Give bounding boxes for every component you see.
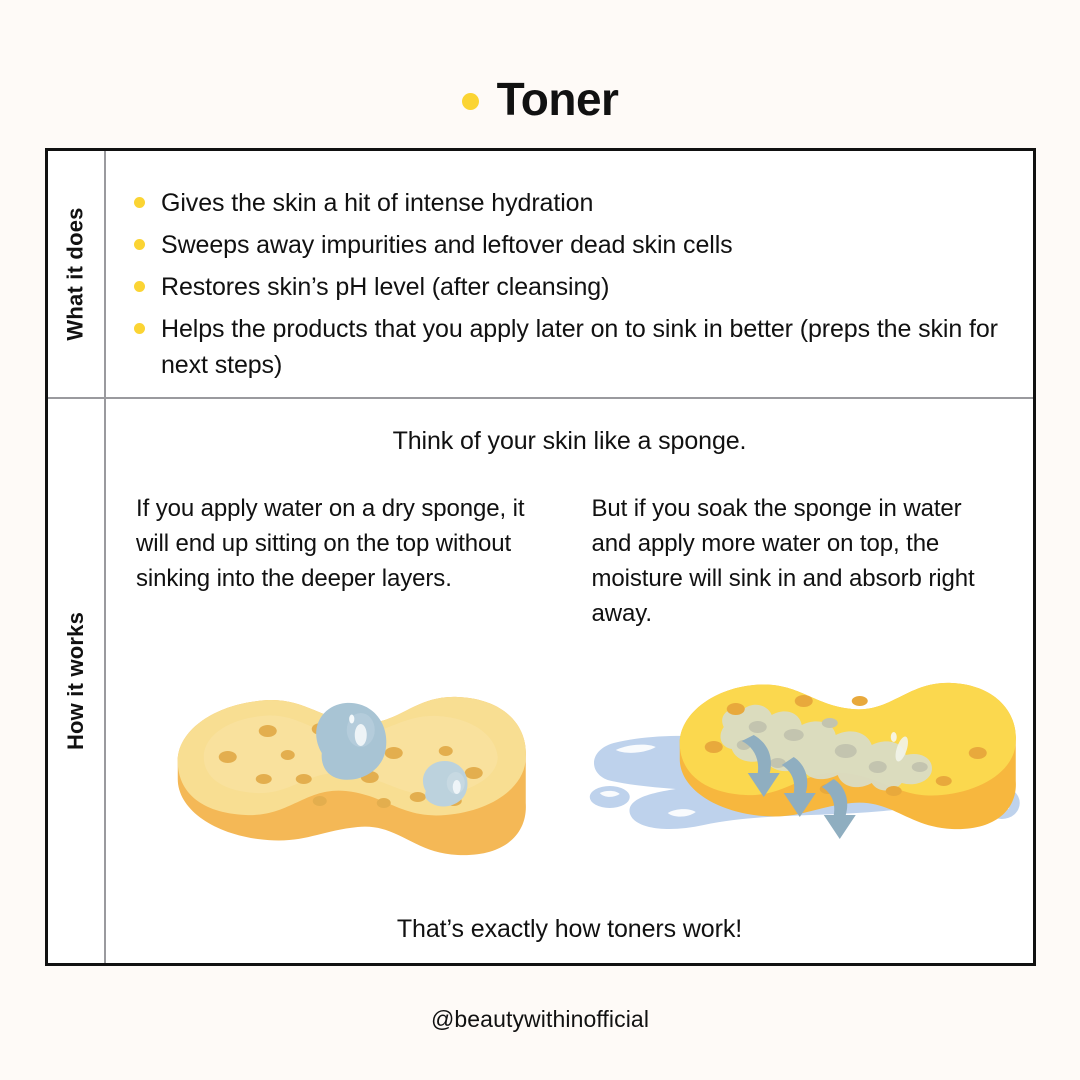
list-item-text: Sweeps away impurities and leftover dead… [161, 227, 733, 263]
list-item: Helps the products that you apply later … [134, 311, 1033, 383]
pore-dot [410, 792, 426, 802]
page-title: Toner [497, 76, 619, 122]
title-bullet-icon [462, 93, 479, 110]
list-item: Sweeps away impurities and leftover dead… [134, 227, 1033, 263]
table-row-what-it-does: What it does Gives the skin a hit of int… [48, 151, 1033, 399]
pore-dot [794, 695, 812, 707]
row-body-how-it-works: Think of your skin like a sponge. If you… [106, 399, 1033, 963]
pore-dot [219, 751, 237, 763]
info-table: What it does Gives the skin a hit of int… [45, 148, 1036, 966]
pore-dot [885, 786, 901, 796]
droplet-highlight [453, 780, 461, 794]
comparison-column-wet: But if you soak the sponge in water and … [592, 491, 1004, 631]
list-item: Restores skin’s pH level (after cleansin… [134, 269, 1033, 305]
droplet-highlight-small [349, 715, 354, 724]
bullet-dot-icon [134, 197, 145, 208]
film-highlight-small [890, 732, 896, 742]
illustrations-row [106, 631, 1033, 881]
pore-dot [851, 696, 867, 706]
dry-sponge-illustration [106, 631, 570, 881]
list-item-text: Gives the skin a hit of intense hydratio… [161, 185, 593, 221]
wet-sponge-illustration [570, 631, 1034, 881]
bullet-dot-icon [134, 281, 145, 292]
sponge-analogy-outro: That’s exactly how toners work! [106, 913, 1033, 945]
pore-dot [726, 703, 744, 715]
bullet-dot-icon [134, 239, 145, 250]
droplet-highlight [355, 724, 367, 746]
row-label-what-it-does: What it does [48, 151, 106, 397]
pore-dot [296, 774, 312, 784]
pore-dot [935, 776, 951, 786]
row-label-how-it-works-text: How it works [63, 612, 89, 750]
row-body-what-it-does: Gives the skin a hit of intense hydratio… [106, 151, 1033, 397]
page-title-row: Toner [0, 68, 1080, 130]
row-label-what-it-does-text: What it does [63, 207, 89, 340]
pore-dot [281, 750, 295, 760]
pore-dot [465, 767, 483, 779]
wet-sponge-svg [570, 631, 1034, 881]
pore-dot-wet [748, 721, 766, 733]
pore-dot [313, 796, 327, 806]
bullet-dot-icon [134, 323, 145, 334]
wet-sponge-description: But if you soak the sponge in water and … [592, 491, 1004, 631]
pore-dot [256, 774, 272, 784]
pore-dot-wet [783, 729, 803, 741]
pore-dot [259, 725, 277, 737]
table-row-how-it-works: How it works Think of your skin like a s… [48, 399, 1033, 963]
dry-sponge-svg [106, 631, 570, 881]
sponge-analogy-intro: Think of your skin like a sponge. [106, 399, 1033, 457]
comparison-column-dry: If you apply water on a dry sponge, it w… [136, 491, 548, 631]
pore-dot [377, 798, 391, 808]
pore-dot [385, 747, 403, 759]
list-item-text: Restores skin’s pH level (after cleansin… [161, 269, 609, 305]
pore-dot [968, 747, 986, 759]
puddle-droplet [589, 786, 629, 808]
footer-handle: @beautywithinofficial [0, 1006, 1080, 1033]
comparison-columns: If you apply water on a dry sponge, it w… [106, 457, 1033, 631]
pore-dot-wet [821, 718, 837, 728]
pore-dot [439, 746, 453, 756]
benefits-list: Gives the skin a hit of intense hydratio… [106, 151, 1033, 383]
list-item: Gives the skin a hit of intense hydratio… [134, 185, 1033, 221]
row-label-how-it-works: How it works [48, 399, 106, 963]
list-item-text: Helps the products that you apply later … [161, 311, 1033, 383]
pore-dot [704, 741, 722, 753]
dry-sponge-description: If you apply water on a dry sponge, it w… [136, 491, 548, 596]
pore-dot-wet [868, 761, 886, 773]
pore-dot-wet [769, 758, 785, 768]
pore-dot-wet [911, 762, 927, 772]
pore-dot-wet [834, 744, 856, 758]
